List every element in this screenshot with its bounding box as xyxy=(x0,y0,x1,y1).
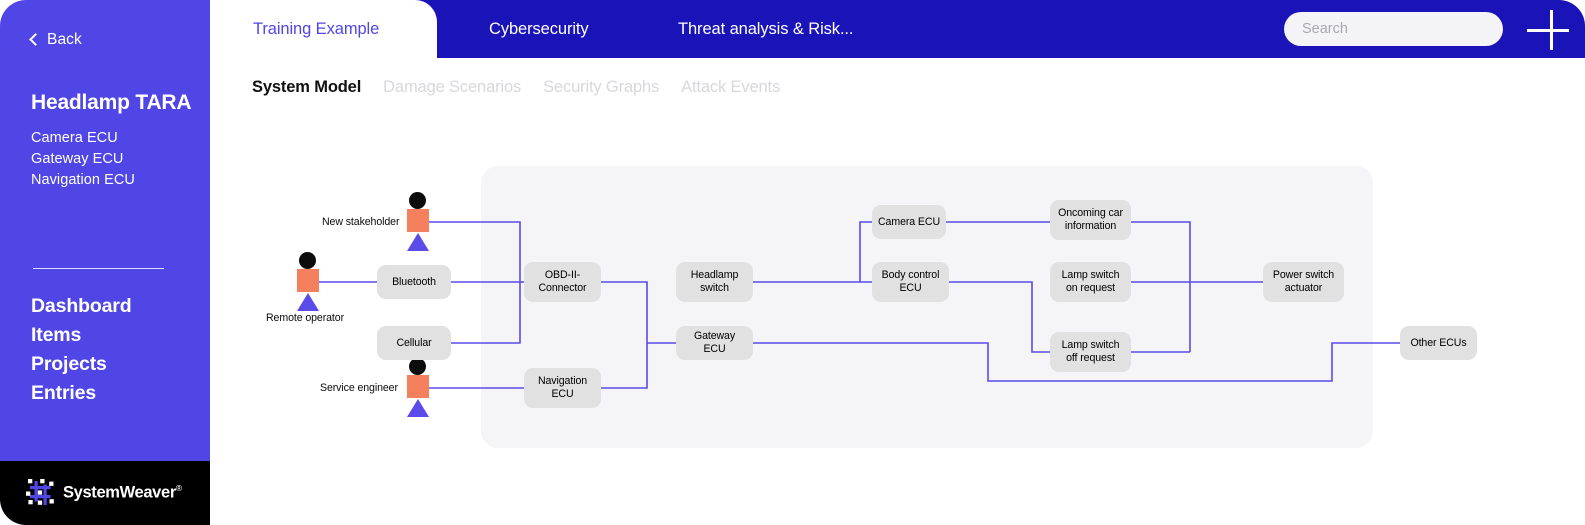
node-navigation-ecu-label-line2: ECU xyxy=(551,388,573,401)
node-cellular-label: Cellular xyxy=(396,337,431,350)
node-power-switch-actuator-label-line2: actuator xyxy=(1285,282,1322,295)
sidebar-item-navigation-ecu[interactable]: Navigation ECU xyxy=(31,170,135,191)
actor-service-engineer[interactable] xyxy=(402,358,432,416)
sidebar-item-entries[interactable]: Entries xyxy=(31,379,132,408)
tab-attack-events[interactable]: Attack Events xyxy=(681,78,780,97)
node-bluetooth[interactable]: Bluetooth xyxy=(377,265,451,299)
app-window: Back Headlamp TARA Camera ECU Gateway EC… xyxy=(0,0,1585,525)
actor-body-icon xyxy=(407,375,429,398)
tab-damage-scenarios[interactable]: Damage Scenarios xyxy=(383,78,521,97)
node-body-control-ecu-label-line2: ECU xyxy=(899,282,921,295)
actor-new-stakeholder[interactable] xyxy=(402,192,432,250)
node-obd-ii-connector-label-line2: Connector xyxy=(539,282,587,295)
page-title: Headlamp TARA xyxy=(31,91,191,115)
sidebar-sub-list: Camera ECU Gateway ECU Navigation ECU xyxy=(31,128,135,191)
brand-name: SystemWeaver® xyxy=(63,483,182,503)
node-gateway-ecu[interactable]: Gateway ECU xyxy=(676,326,753,360)
tab-threat-analysis-label: Threat analysis & Risk... xyxy=(678,20,853,39)
plus-icon-horizontal xyxy=(1527,29,1569,32)
actor-body-icon xyxy=(407,209,429,232)
node-power-switch-actuator-label-line1: Power switch xyxy=(1273,269,1334,282)
search-input[interactable] xyxy=(1284,12,1503,46)
tab-system-model[interactable]: System Model xyxy=(252,78,361,97)
node-bluetooth-label: Bluetooth xyxy=(392,276,436,289)
sidebar-nav-list: Dashboard Items Projects Entries xyxy=(31,292,132,408)
sidebar-item-items[interactable]: Items xyxy=(31,321,132,350)
actor-label-service-engineer: Service engineer xyxy=(320,382,398,394)
node-navigation-ecu[interactable]: Navigation ECU xyxy=(524,368,601,408)
sub-tab-bar: System Model Damage Scenarios Security G… xyxy=(252,78,780,97)
actor-body-icon xyxy=(297,269,319,292)
node-lamp-switch-on-request[interactable]: Lamp switch on request xyxy=(1050,262,1131,302)
node-headlamp-switch-label-line1: Headlamp xyxy=(691,269,739,282)
node-lamp-switch-on-request-label-line2: on request xyxy=(1066,282,1115,295)
node-body-control-ecu[interactable]: Body control ECU xyxy=(872,262,949,302)
node-lamp-switch-on-request-label-line1: Lamp switch xyxy=(1062,269,1120,282)
node-lamp-switch-off-request[interactable]: Lamp switch off request xyxy=(1050,332,1131,372)
tab-security-graphs[interactable]: Security Graphs xyxy=(543,78,659,97)
sidebar: Back Headlamp TARA Camera ECU Gateway EC… xyxy=(0,0,210,525)
back-label: Back xyxy=(47,31,82,49)
actor-label-remote-operator: Remote operator xyxy=(266,312,344,324)
back-button[interactable]: Back xyxy=(31,31,82,49)
actor-remote-operator[interactable] xyxy=(292,252,322,310)
sidebar-item-projects[interactable]: Projects xyxy=(31,350,132,379)
top-bar: Training Example Cybersecurity Threat an… xyxy=(210,0,1585,58)
node-lamp-switch-off-request-label-line2: off request xyxy=(1066,352,1115,365)
node-headlamp-switch[interactable]: Headlamp switch xyxy=(676,262,753,302)
node-power-switch-actuator[interactable]: Power switch actuator xyxy=(1263,262,1344,302)
node-oncoming-car-information[interactable]: Oncoming car information xyxy=(1050,200,1131,240)
chevron-left-icon xyxy=(29,33,42,46)
diagram-edges xyxy=(210,110,1585,525)
sidebar-footer: SystemWeaver® xyxy=(0,461,210,525)
tab-cybersecurity-label: Cybersecurity xyxy=(489,20,589,39)
node-other-ecus-label: Other ECUs xyxy=(1410,337,1466,350)
sidebar-item-camera-ecu[interactable]: Camera ECU xyxy=(31,128,135,149)
node-oncoming-car-information-label-line2: information xyxy=(1065,220,1116,233)
registered-mark: ® xyxy=(176,483,182,493)
node-cellular[interactable]: Cellular xyxy=(377,326,451,360)
tab-threat-analysis[interactable]: Threat analysis & Risk... xyxy=(678,0,853,58)
tab-training-example[interactable]: Training Example xyxy=(210,0,437,58)
node-camera-ecu-label: Camera ECU xyxy=(878,216,940,229)
node-headlamp-switch-label-line2: switch xyxy=(700,282,729,295)
node-obd-ii-connector-label-line1: OBD-II- xyxy=(545,269,580,282)
node-gateway-ecu-label: Gateway ECU xyxy=(682,330,747,355)
actor-label-new-stakeholder: New stakeholder xyxy=(322,216,399,228)
node-obd-ii-connector[interactable]: OBD-II- Connector xyxy=(524,262,601,302)
actor-head-icon xyxy=(409,358,426,375)
brand-label: SystemWeaver xyxy=(63,484,176,502)
sidebar-item-gateway-ecu[interactable]: Gateway ECU xyxy=(31,149,135,170)
actor-head-icon xyxy=(299,252,316,269)
node-lamp-switch-off-request-label-line1: Lamp switch xyxy=(1062,339,1120,352)
node-body-control-ecu-label-line1: Body control xyxy=(882,269,940,282)
node-camera-ecu[interactable]: Camera ECU xyxy=(872,205,946,239)
tab-training-example-label: Training Example xyxy=(253,20,379,39)
actor-legs-icon xyxy=(297,293,319,311)
actor-legs-icon xyxy=(407,233,429,251)
systemweaver-logo-icon xyxy=(26,479,56,507)
tab-cybersecurity[interactable]: Cybersecurity xyxy=(489,0,589,58)
node-oncoming-car-information-label-line1: Oncoming car xyxy=(1058,207,1123,220)
plus-icon-vertical xyxy=(1550,10,1553,50)
add-button[interactable] xyxy=(1525,10,1571,50)
node-other-ecus[interactable]: Other ECUs xyxy=(1400,326,1477,360)
actor-legs-icon xyxy=(407,399,429,417)
sidebar-item-dashboard[interactable]: Dashboard xyxy=(31,292,132,321)
actor-head-icon xyxy=(409,192,426,209)
node-navigation-ecu-label-line1: Navigation xyxy=(538,375,587,388)
system-model-diagram[interactable]: New stakeholder Remote operator Service … xyxy=(210,110,1585,525)
sidebar-divider xyxy=(33,268,164,269)
